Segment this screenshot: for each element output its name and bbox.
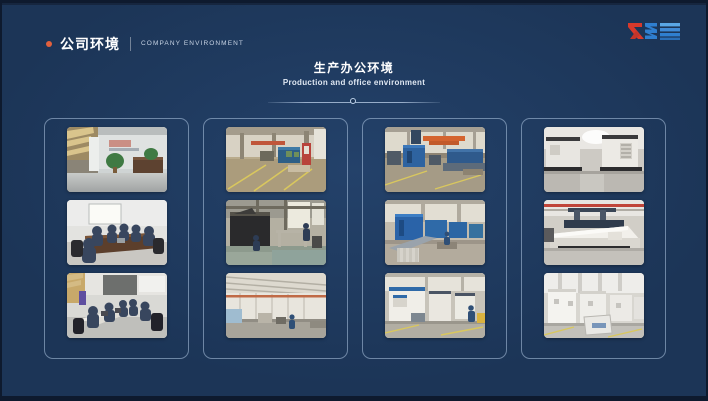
photo-warehouse-bay bbox=[226, 273, 326, 338]
photo-grid bbox=[44, 118, 666, 359]
bottom-edge-strip bbox=[2, 396, 706, 399]
photo-cnc-pair bbox=[544, 127, 644, 192]
header-divider bbox=[130, 37, 131, 51]
column-cnc-machines bbox=[521, 118, 666, 359]
photo-cnc-cell bbox=[385, 273, 485, 338]
slide-canvas: 公司环境 COMPANY ENVIRONMENT 生产办公环境 Producti… bbox=[2, 3, 706, 399]
title-divider bbox=[268, 97, 440, 107]
top-edge-strip bbox=[2, 3, 706, 5]
header-title-en: COMPANY ENVIRONMENT bbox=[141, 41, 244, 48]
photo-workshop-floor bbox=[226, 127, 326, 192]
photo-production-hall bbox=[385, 127, 485, 192]
photo-gantry-mill bbox=[544, 200, 644, 265]
photo-paint-booth bbox=[226, 200, 326, 265]
column-office bbox=[44, 118, 189, 359]
photo-office-reception bbox=[67, 127, 167, 192]
page-title-cn: 生产办公环境 bbox=[2, 61, 706, 76]
page-title-block: 生产办公环境 Production and office environment bbox=[2, 61, 706, 107]
page-title-en: Production and office environment bbox=[2, 77, 706, 89]
bullet-dot-icon bbox=[46, 41, 52, 47]
company-logo bbox=[626, 17, 684, 45]
photo-open-office bbox=[67, 273, 167, 338]
section-header: 公司环境 COMPANY ENVIRONMENT bbox=[46, 35, 244, 53]
divider-circle-icon bbox=[350, 98, 356, 104]
photo-meeting-room bbox=[67, 200, 167, 265]
header-title-cn: 公司环境 bbox=[60, 37, 120, 51]
photo-press-line bbox=[385, 200, 485, 265]
column-production bbox=[362, 118, 507, 359]
photo-machine-row bbox=[544, 273, 644, 338]
column-workshop bbox=[203, 118, 348, 359]
